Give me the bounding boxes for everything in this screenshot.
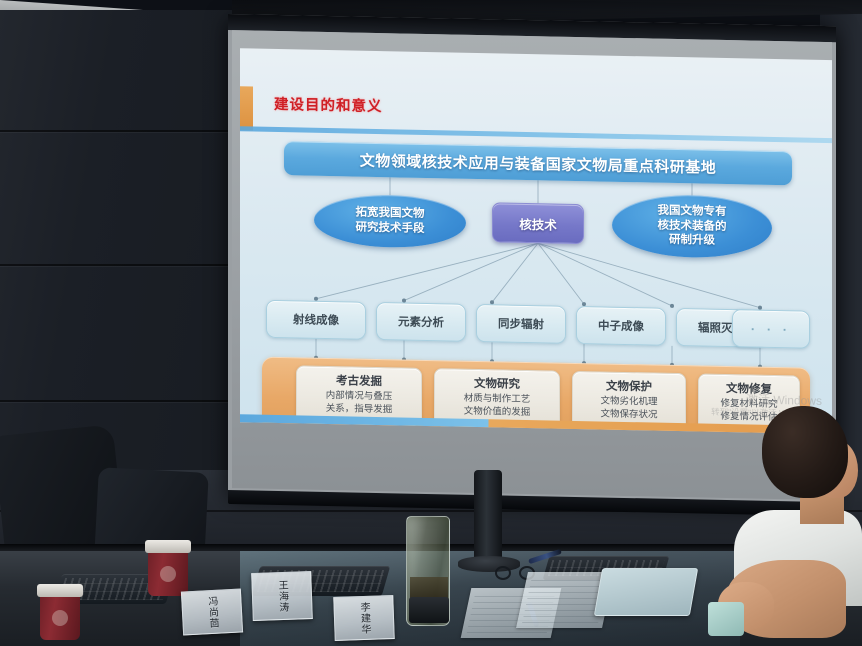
goal-ellipse-left: 拓宽我国文物 研究技术手段 xyxy=(314,194,466,249)
core-node-nuclear-tech: 核技术 xyxy=(492,202,584,244)
coffee-cup-1 xyxy=(148,548,188,596)
name-card-label-0: 冯尚茴 xyxy=(204,595,221,629)
application-title-1: 文物研究 xyxy=(474,377,520,393)
application-title-0: 考古发掘 xyxy=(336,374,382,390)
coffee-cup-2 xyxy=(40,592,80,640)
technique-pill-3: 中子成像 xyxy=(576,306,666,346)
presentation-slide: 建设目的和意义 xyxy=(240,48,832,434)
goal-left-label: 拓宽我国文物 研究技术手段 xyxy=(356,206,425,237)
technique-pill-1: 元素分析 xyxy=(376,302,466,342)
name-card-0: 冯尚茴 xyxy=(181,588,243,635)
application-line1-0: 内部情况与叠压 xyxy=(326,390,393,404)
technique-label-more: · · · xyxy=(751,321,791,337)
technique-pill-2: 同步辐射 xyxy=(476,304,566,344)
slide-accent-bar xyxy=(240,86,253,130)
name-card-label-2: 李建华 xyxy=(356,601,372,635)
technique-label-3: 中子成像 xyxy=(598,317,644,334)
technique-label-2: 同步辐射 xyxy=(498,315,544,332)
microphone xyxy=(474,470,502,562)
application-line1-1: 材质与制作工艺 xyxy=(464,393,531,407)
technique-pill-more: · · · xyxy=(732,309,810,349)
goal-ellipse-right: 我国文物专有 核技术装备的 研制升级 xyxy=(612,194,772,259)
tea-jar xyxy=(406,516,450,626)
goal-right-label: 我国文物专有 核技术装备的 研制升级 xyxy=(658,204,727,250)
attendee-phone xyxy=(708,602,744,636)
attendee-head xyxy=(762,406,848,498)
application-line1-2: 文物劣化机理 xyxy=(600,395,657,409)
technique-label-1: 元素分析 xyxy=(398,313,444,330)
diagram-header-box: 文物领域核技术应用与装备国家文物局重点科研基地 xyxy=(284,141,792,185)
name-card-1: 王海涛 xyxy=(251,571,313,621)
core-node-label: 核技术 xyxy=(519,213,557,233)
technique-pill-0: 射线成像 xyxy=(266,300,366,340)
slide-section-title: 建设目的和意义 xyxy=(274,93,383,116)
application-line2-2: 文物保存状况 xyxy=(600,409,657,423)
application-title-2: 文物保护 xyxy=(606,380,652,396)
technique-label-0: 射线成像 xyxy=(293,311,339,328)
name-card-label-1: 王海涛 xyxy=(274,579,290,613)
attendee-seated xyxy=(726,406,862,646)
conference-room-photo: 建设目的和意义 xyxy=(0,0,862,646)
name-card-2: 李建华 xyxy=(333,595,394,641)
tablet-device xyxy=(594,568,698,616)
slide-diagram: 文物领域核技术应用与装备国家文物局重点科研基地 拓宽我国文物 研究技术手段 核技… xyxy=(240,134,832,434)
